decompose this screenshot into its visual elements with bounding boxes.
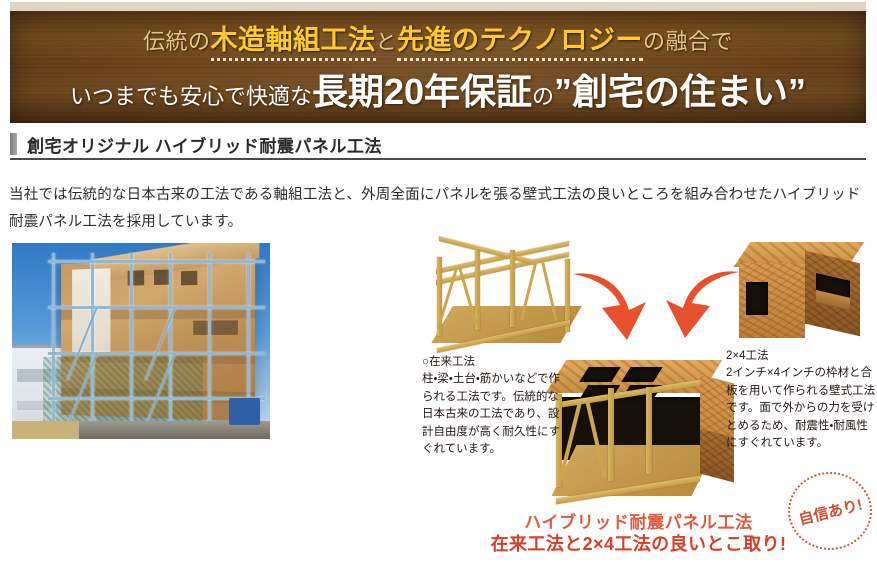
hero-line1-post: の融合で <box>643 29 733 54</box>
body-paragraph: 当社では伝統的な日本古来の工法である軸組工法と、外周全面にパネルを張る壁式工法の… <box>9 182 867 236</box>
caption-2x4-title: 2×4工法 <box>726 348 877 365</box>
top-strip <box>10 2 866 11</box>
hero-line2-big-1: 長期20年保証 <box>312 71 532 112</box>
hero-line1-mid: と <box>376 31 398 54</box>
model-hybrid-panel <box>540 358 740 508</box>
hero-line2-pre: いつまでも安心で快適な <box>70 84 312 109</box>
caption-2x4-method: 2×4工法 2インチ×4インチの枠材と合板を用いて作られる壁式工法です。面で外か… <box>726 348 877 453</box>
hero-banner-inner: 伝統の木造軸組工法と先進のテクノロジーの融合で いつまでも安心で快適な長期20年… <box>10 11 866 123</box>
section-accent-bar <box>10 133 17 155</box>
caption-traditional-title: ○在来工法 <box>422 354 570 371</box>
hero-line2-mid: の <box>532 84 554 109</box>
confidence-stamp-badge: 自信あり! <box>788 472 872 550</box>
section-heading-title: 創宅オリジナル ハイブリッド耐震パネル工法 <box>27 132 382 157</box>
hero-line1-pre: 伝統の <box>143 29 211 54</box>
caption-2x4-body: 2インチ×4インチの枠材と合板を用いて作られる壁式工法です。面で外からの力を受け… <box>726 365 877 452</box>
construction-photo <box>12 243 270 439</box>
hero-banner: 伝統の木造軸組工法と先進のテクノロジーの融合で いつまでも安心で快適な長期20年… <box>10 11 866 123</box>
model-2x4-panel-box <box>734 240 866 344</box>
photo-blue-tarp <box>229 398 260 425</box>
arrow-down-left-icon <box>572 264 658 342</box>
caption-traditional-method: ○在来工法 柱・梁・土台・筋かいなどで作られる工法です。伝統的な日本古来の工法で… <box>422 354 570 459</box>
hero-line1-emphasis-1: 木造軸組工法 <box>211 25 376 61</box>
hero-line1-emphasis-2: 先進のテクノロジー <box>397 25 643 61</box>
page-root: 伝統の木造軸組工法と先進のテクノロジーの融合で いつまでも安心で快適な長期20年… <box>0 0 877 577</box>
hero-line-2: いつまでも安心で快適な長期20年保証の”創宅の住まい” <box>70 74 806 110</box>
arrow-down-right-icon <box>654 262 740 340</box>
section-heading: 創宅オリジナル ハイブリッド耐震パネル工法 <box>10 130 866 160</box>
model-traditional-frame <box>422 244 592 354</box>
caption-traditional-body: 柱・梁・土台・筋かいなどで作られる工法です。伝統的な日本古来の工法であり、設計自… <box>422 371 570 458</box>
hero-line-1: 伝統の木造軸組工法と先進のテクノロジーの融合で <box>143 27 733 54</box>
hero-line2-big-2: ”創宅の住まい” <box>554 71 806 112</box>
confidence-stamp-text: 自信あり! <box>796 493 864 529</box>
